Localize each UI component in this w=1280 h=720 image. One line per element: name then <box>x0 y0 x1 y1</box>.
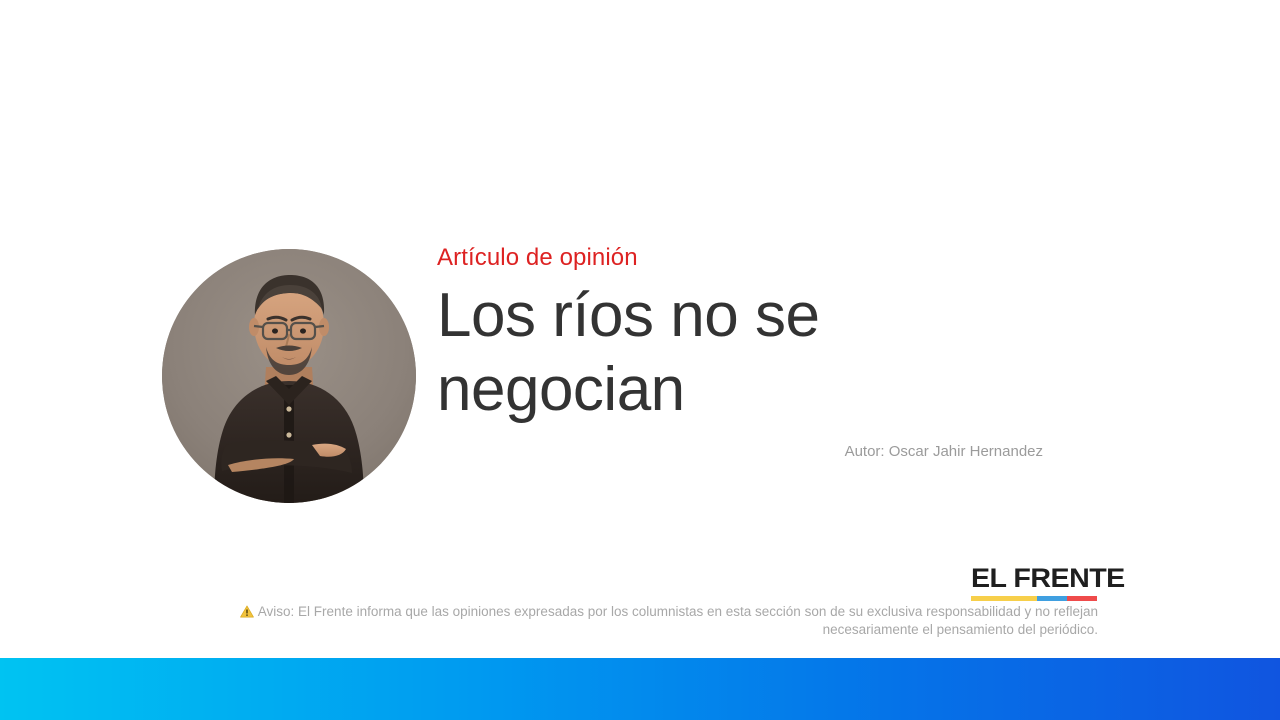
warning-triangle-icon <box>240 605 254 618</box>
disclaimer-text: Aviso: El Frente informa que las opinion… <box>258 604 1098 637</box>
author-portrait <box>162 249 416 503</box>
article-headline: Los ríos no se negocian <box>437 279 907 427</box>
el-frente-logo: EL FRENTE <box>971 564 1102 601</box>
logo-tricolor-bar <box>971 596 1097 601</box>
portrait-illustration <box>162 249 416 503</box>
headline-block: Artículo de opinión Los ríos no se negoc… <box>437 243 1097 427</box>
logo-wordmark: EL FRENTE <box>971 564 1110 592</box>
article-author: Autor: Oscar Jahir Hernandez <box>437 441 1043 463</box>
logo-bar-blue <box>1037 596 1067 601</box>
article-slide: Artículo de opinión Los ríos no se negoc… <box>0 0 1280 720</box>
logo-bar-red <box>1067 596 1097 601</box>
article-kicker: Artículo de opinión <box>437 243 1097 273</box>
logo-bar-yellow <box>971 596 1037 601</box>
footer-gradient-bar <box>0 658 1280 720</box>
disclaimer-notice: Aviso: El Frente informa que las opinion… <box>190 603 1098 638</box>
